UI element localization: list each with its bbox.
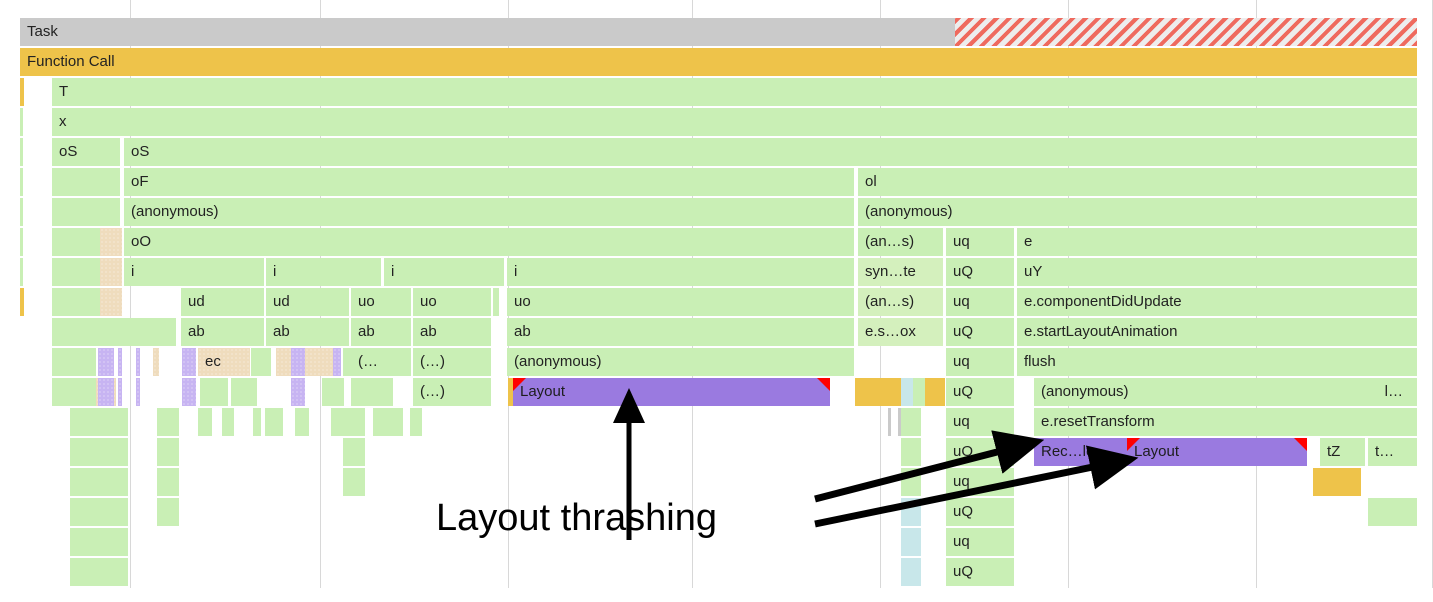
flame-block[interactable]: oS xyxy=(52,138,120,166)
flame-block[interactable] xyxy=(52,348,96,376)
flame-block[interactable] xyxy=(253,408,261,436)
flame-block-label: ab xyxy=(351,318,375,346)
flame-block[interactable]: uo xyxy=(413,288,491,316)
flame-block[interactable] xyxy=(52,258,100,286)
flame-block[interactable]: uO xyxy=(946,438,1014,466)
flame-block[interactable] xyxy=(20,168,23,196)
flame-block[interactable]: uQ xyxy=(946,378,1014,406)
flame-block[interactable] xyxy=(118,348,122,376)
flame-block[interactable]: (anonymous) xyxy=(858,198,1417,226)
flame-block-label: oF xyxy=(124,168,149,196)
row-18[interactable]: uQ xyxy=(0,558,1433,588)
flame-block[interactable] xyxy=(70,468,128,496)
flame-block[interactable] xyxy=(901,378,913,406)
flame-block-label: oS xyxy=(124,138,149,166)
flame-block[interactable] xyxy=(410,408,422,436)
flame-block[interactable] xyxy=(343,468,365,496)
flame-block-label: uQ xyxy=(946,258,973,286)
row-oO[interactable]: oO(an…s)uqe xyxy=(0,228,1433,258)
flame-block[interactable]: ab xyxy=(181,318,264,346)
row-ec[interactable]: ec(…(…)(anonymous)uqflush xyxy=(0,348,1433,378)
flame-block[interactable] xyxy=(70,408,128,436)
flame-block[interactable] xyxy=(52,288,100,316)
layout-thrashing-annotation: Layout thrashing xyxy=(436,497,717,540)
flame-block-label: e.resetTransform xyxy=(1034,408,1155,436)
flame-block-label: ol xyxy=(858,168,877,196)
flame-block[interactable] xyxy=(52,168,120,196)
flame-block[interactable] xyxy=(20,228,23,256)
forced-reflow-warning-icon xyxy=(513,378,526,391)
flame-block[interactable]: e.componentDidUpdate xyxy=(1017,288,1417,316)
flame-block-label: oO xyxy=(124,228,151,256)
flame-block[interactable]: (anonymous) xyxy=(124,198,854,226)
flame-block-label: uo xyxy=(351,288,375,316)
flame-block[interactable] xyxy=(901,438,921,466)
flame-block-label: e.s…ox xyxy=(858,318,916,346)
flame-block[interactable] xyxy=(70,528,128,556)
flame-block[interactable]: ab xyxy=(351,318,411,346)
flame-block[interactable]: e.startLayoutAnimation xyxy=(1017,318,1417,346)
flame-block[interactable] xyxy=(265,408,283,436)
row-layout-second[interactable]: uORec…leLayouttZt… xyxy=(0,438,1433,468)
flame-block[interactable]: l… xyxy=(1250,378,1417,406)
flame-block-label: ab xyxy=(266,318,290,346)
flame-block[interactable]: oS xyxy=(124,138,1417,166)
flame-block-label: uq xyxy=(946,468,970,496)
flame-block-label: l… xyxy=(1385,378,1417,406)
flame-block-label: (…) xyxy=(413,378,445,406)
flame-block[interactable] xyxy=(136,378,140,406)
flame-block[interactable]: Layout xyxy=(513,378,830,406)
flame-block[interactable] xyxy=(98,378,114,406)
flame-block[interactable]: e.resetTransform xyxy=(1034,408,1417,436)
flame-block[interactable]: uY xyxy=(1017,258,1417,286)
flame-block[interactable]: oF xyxy=(124,168,854,196)
flame-block[interactable] xyxy=(136,348,140,376)
flame-block[interactable] xyxy=(100,228,122,256)
flame-block[interactable] xyxy=(20,138,23,166)
flame-block-label: oS xyxy=(52,138,77,166)
flame-block[interactable] xyxy=(20,288,24,316)
flame-block[interactable]: (… xyxy=(351,348,411,376)
flame-block-label: ab xyxy=(181,318,205,346)
flame-block[interactable] xyxy=(901,558,921,586)
flame-block[interactable] xyxy=(888,408,891,436)
forced-reflow-warning-icon xyxy=(1127,438,1140,451)
flame-block-label: (an…s) xyxy=(858,288,914,316)
flame-block-label: ab xyxy=(507,318,531,346)
flame-block[interactable] xyxy=(855,378,901,406)
flame-block[interactable] xyxy=(100,258,122,286)
row-T[interactable]: T xyxy=(0,78,1433,108)
flame-block-label: Task xyxy=(20,18,58,46)
row-resetTransform[interactable]: uqe.resetTransform xyxy=(0,408,1433,438)
flame-block-label: e xyxy=(1017,228,1032,256)
flame-block-label: flush xyxy=(1017,348,1056,376)
row-15[interactable]: uq xyxy=(0,468,1433,498)
flame-block[interactable] xyxy=(231,378,257,406)
flame-block[interactable]: (an…s) xyxy=(858,228,943,256)
flame-block[interactable] xyxy=(493,288,499,316)
flame-block[interactable] xyxy=(913,378,925,406)
flame-block[interactable] xyxy=(291,348,305,376)
flame-block[interactable] xyxy=(331,408,365,436)
flame-block-label: Function Call xyxy=(20,48,115,76)
flame-block[interactable] xyxy=(291,378,305,406)
flame-block-label: uQ xyxy=(946,318,973,346)
flame-block[interactable]: uq xyxy=(946,468,1014,496)
flame-block-label: uQ xyxy=(946,558,973,586)
flame-block-label: x xyxy=(52,108,67,136)
flame-block-label: uq xyxy=(946,288,970,316)
flame-block-label: syn…te xyxy=(858,258,916,286)
flame-block[interactable] xyxy=(20,108,23,136)
flame-block-label: (… xyxy=(351,348,378,376)
flame-block[interactable]: e xyxy=(1017,228,1417,256)
row-layout-main[interactable]: (…)LayoutuQ(anonymous)l… xyxy=(0,378,1433,408)
flame-block-label: e.startLayoutAnimation xyxy=(1017,318,1177,346)
flame-block-label: (an…s) xyxy=(858,228,914,256)
function-call-row[interactable]: Function Call xyxy=(0,48,1433,78)
forced-reflow-warning-icon xyxy=(817,378,830,391)
flame-block[interactable]: Function Call xyxy=(20,48,1417,76)
flame-block[interactable]: e.s…ox xyxy=(858,318,943,346)
flame-block[interactable]: Task xyxy=(20,18,955,46)
flame-block[interactable]: i xyxy=(507,258,854,286)
flame-block[interactable]: uq xyxy=(946,228,1014,256)
flame-block-label: uQ xyxy=(946,378,973,406)
flame-chart-viewport[interactable]: TaskFunction CallTxoSoSoFol(anonymous)(a… xyxy=(0,0,1433,602)
flame-block-label: ab xyxy=(413,318,437,346)
flame-block[interactable] xyxy=(955,18,1417,46)
flame-block[interactable] xyxy=(52,318,176,346)
flame-block[interactable] xyxy=(20,78,24,106)
flame-block[interactable] xyxy=(20,258,23,286)
flame-block[interactable]: flush xyxy=(1017,348,1417,376)
flame-block-label: (anonymous) xyxy=(858,198,953,226)
flame-block-label: t… xyxy=(1368,438,1394,466)
flame-block[interactable]: ab xyxy=(413,318,491,346)
flame-block[interactable]: x xyxy=(52,108,1417,136)
flame-block[interactable]: (anonymous) xyxy=(507,348,854,376)
flame-block-label: uo xyxy=(507,288,531,316)
flame-block[interactable]: uQ xyxy=(946,258,1014,286)
flame-block[interactable] xyxy=(98,348,114,376)
flame-block[interactable]: Layout xyxy=(1127,438,1307,466)
flame-block[interactable] xyxy=(276,348,292,376)
flame-block-label: ud xyxy=(181,288,205,316)
flame-block-label: i xyxy=(266,258,276,286)
flame-block[interactable] xyxy=(322,378,344,406)
flame-block[interactable]: uq xyxy=(946,288,1014,316)
flame-block[interactable] xyxy=(343,438,365,466)
flame-block[interactable] xyxy=(251,348,271,376)
flame-block[interactable] xyxy=(200,378,228,406)
flame-block[interactable] xyxy=(901,408,921,436)
flame-block-label: uO xyxy=(946,438,973,466)
flame-block[interactable]: oO xyxy=(124,228,854,256)
flame-block[interactable]: ol xyxy=(858,168,1417,196)
row-i-1[interactable]: iiiisyn…teuQuY xyxy=(0,258,1433,288)
flame-block[interactable] xyxy=(182,348,196,376)
flame-block[interactable]: (…) xyxy=(413,378,491,406)
flame-block-label: uq xyxy=(946,408,970,436)
flame-block-label: i xyxy=(124,258,134,286)
flame-block[interactable] xyxy=(70,558,128,586)
flame-block[interactable]: T xyxy=(52,78,1417,106)
row-oF[interactable]: oFol xyxy=(0,168,1433,198)
flame-block[interactable] xyxy=(52,228,100,256)
flame-block[interactable] xyxy=(70,498,128,526)
flame-block[interactable]: i xyxy=(124,258,264,286)
flame-block[interactable]: (…) xyxy=(413,348,491,376)
flame-block[interactable] xyxy=(118,378,122,406)
flame-block[interactable] xyxy=(157,438,179,466)
flame-block-label: uq xyxy=(946,228,970,256)
flame-block-label: i xyxy=(507,258,517,286)
flame-block[interactable] xyxy=(333,348,341,376)
flame-block[interactable]: (an…s) xyxy=(858,288,943,316)
flame-block[interactable] xyxy=(52,198,120,226)
flame-block[interactable] xyxy=(901,498,921,526)
flame-block[interactable]: t… xyxy=(1368,438,1417,466)
flame-block[interactable]: uq xyxy=(946,348,1014,376)
flame-block[interactable] xyxy=(70,438,128,466)
flame-block-label: i xyxy=(384,258,394,286)
flame-block[interactable] xyxy=(1313,468,1361,496)
flame-block[interactable] xyxy=(20,198,23,226)
flame-block[interactable]: Rec…le xyxy=(1034,438,1127,466)
flame-block[interactable] xyxy=(222,408,234,436)
flame-block[interactable]: uo xyxy=(507,288,854,316)
flame-block[interactable] xyxy=(901,528,921,556)
flame-block[interactable] xyxy=(305,348,333,376)
flame-block-label: ec xyxy=(198,348,221,376)
flame-block[interactable]: uq xyxy=(946,528,1014,556)
flame-block[interactable] xyxy=(901,468,921,496)
flame-block[interactable]: tZ xyxy=(1320,438,1365,466)
flame-block[interactable]: i xyxy=(266,258,381,286)
flame-block[interactable]: ab xyxy=(266,318,349,346)
flame-block[interactable] xyxy=(157,468,179,496)
flame-block-label: uq xyxy=(946,528,970,556)
flame-block-label: Rec…le xyxy=(1034,438,1094,466)
flame-block[interactable]: uq xyxy=(946,408,1014,436)
flame-block-label: (anonymous) xyxy=(507,348,602,376)
flame-block[interactable] xyxy=(351,378,393,406)
flame-block-label: ud xyxy=(266,288,290,316)
flame-block-label: uY xyxy=(1017,258,1042,286)
flame-block-label: uQ xyxy=(946,498,973,526)
flame-block[interactable]: ec xyxy=(198,348,250,376)
flame-block[interactable]: uo xyxy=(351,288,411,316)
flame-block-label: (anonymous) xyxy=(1034,378,1129,406)
flame-block-label: tZ xyxy=(1320,438,1340,466)
flame-block[interactable] xyxy=(1368,498,1417,526)
flame-block[interactable]: i xyxy=(384,258,504,286)
flame-block-label: (anonymous) xyxy=(124,198,219,226)
flame-block[interactable] xyxy=(153,348,159,376)
flame-block[interactable]: uQ xyxy=(946,498,1014,526)
row-ab[interactable]: abababababe.s…oxuQe.startLayoutAnimation xyxy=(0,318,1433,348)
flame-block[interactable]: uQ xyxy=(946,558,1014,586)
row-x[interactable]: x xyxy=(0,108,1433,138)
flame-block[interactable] xyxy=(182,378,196,406)
flame-block[interactable] xyxy=(157,498,179,526)
flame-block[interactable]: syn…te xyxy=(858,258,943,286)
flame-block[interactable]: ab xyxy=(507,318,854,346)
row-oS[interactable]: oSoS xyxy=(0,138,1433,168)
row-ud[interactable]: ududuououo(an…s)uqe.componentDidUpdate xyxy=(0,288,1433,318)
flame-block[interactable] xyxy=(100,288,122,316)
flame-block-label: e.componentDidUpdate xyxy=(1017,288,1182,316)
flame-block[interactable] xyxy=(198,408,212,436)
forced-reflow-warning-icon xyxy=(1294,438,1307,451)
task-row[interactable]: Task xyxy=(0,18,1433,48)
flame-block[interactable] xyxy=(295,408,309,436)
flame-block-label: uo xyxy=(413,288,437,316)
flame-block[interactable] xyxy=(925,378,945,406)
row-anonymous-1[interactable]: (anonymous)(anonymous) xyxy=(0,198,1433,228)
flame-block[interactable] xyxy=(52,378,96,406)
flame-block-label: uq xyxy=(946,348,970,376)
flame-block[interactable] xyxy=(157,408,179,436)
flame-block-label: (…) xyxy=(413,348,445,376)
flame-block[interactable]: ud xyxy=(266,288,349,316)
flame-block[interactable]: uQ xyxy=(946,318,1014,346)
flame-block[interactable] xyxy=(373,408,403,436)
flame-block[interactable]: ud xyxy=(181,288,264,316)
flame-block-label: T xyxy=(52,78,68,106)
